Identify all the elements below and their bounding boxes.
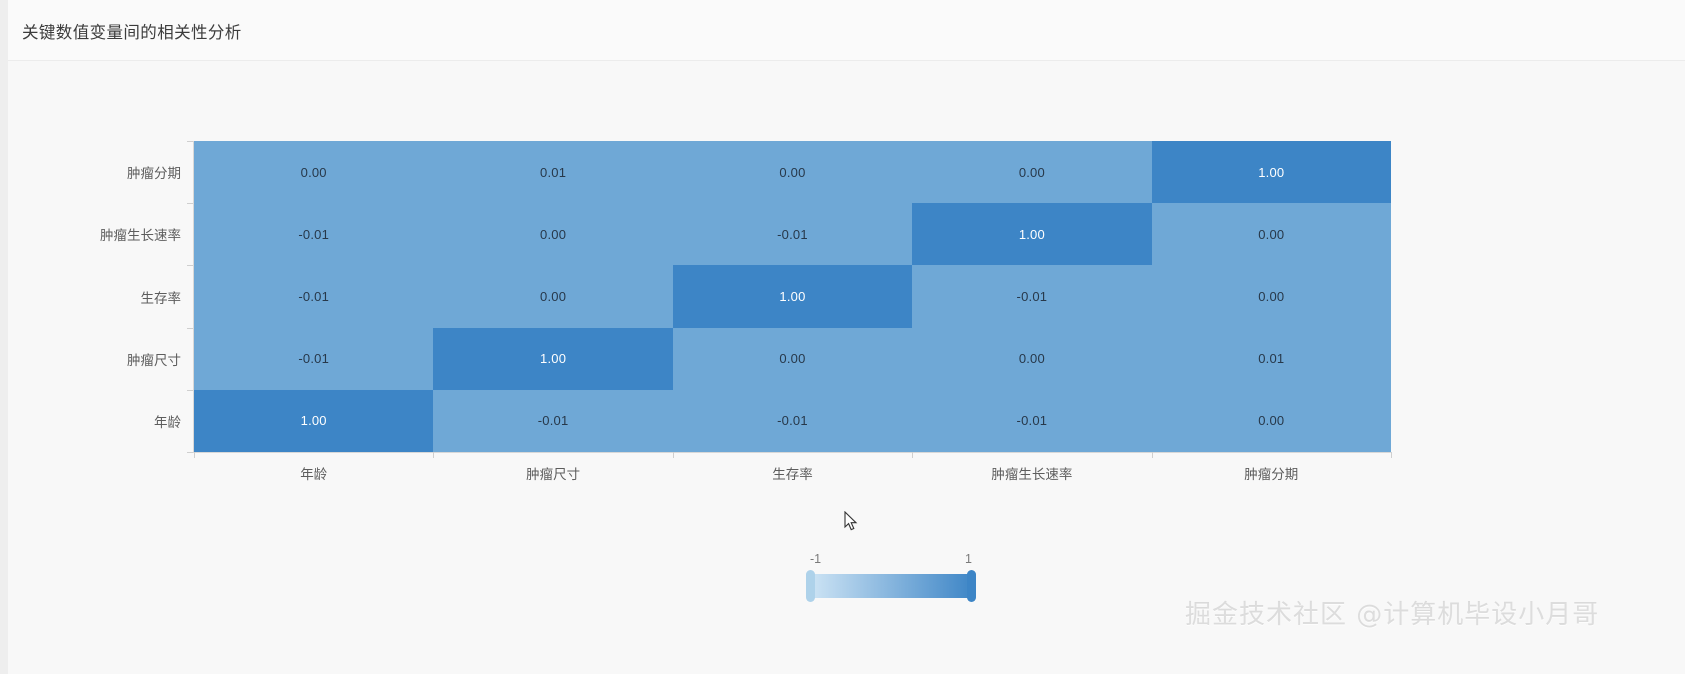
heatmap-cell[interactable]: 1.00 xyxy=(433,328,672,390)
heatmap-cell[interactable]: 0.00 xyxy=(1152,203,1391,265)
heatmap-cell[interactable]: 0.00 xyxy=(673,141,912,203)
heatmap-cell[interactable]: -0.01 xyxy=(673,203,912,265)
x-axis-label: 生存率 xyxy=(772,463,813,483)
heatmap-cell[interactable]: 1.00 xyxy=(673,265,912,327)
x-axis-line xyxy=(193,452,1392,453)
x-axis-tick xyxy=(433,452,434,458)
heatmap-plot-area[interactable]: 0.000.010.000.001.00-0.010.00-0.011.000.… xyxy=(194,141,1391,452)
y-axis-label: 肿瘤生长速率 xyxy=(8,224,181,244)
x-axis-label: 肿瘤生长速率 xyxy=(991,463,1072,483)
card-header: 关键数值变量间的相关性分析 xyxy=(8,0,1685,61)
heatmap-cell[interactable]: -0.01 xyxy=(194,265,433,327)
left-gutter xyxy=(0,0,8,674)
y-axis-line xyxy=(193,141,194,452)
x-axis-label: 肿瘤分期 xyxy=(1244,463,1298,483)
correlation-heatmap-chart: 0.000.010.000.001.00-0.010.00-0.011.000.… xyxy=(8,61,1685,674)
heatmap-cell[interactable]: -0.01 xyxy=(194,203,433,265)
visual-map-gradient-bar[interactable] xyxy=(808,574,974,598)
page-background: 关键数值变量间的相关性分析 0.000.010.000.001.00-0.010… xyxy=(0,0,1685,674)
y-axis-tick xyxy=(187,328,193,329)
x-axis-label: 肿瘤尺寸 xyxy=(526,463,580,483)
heatmap-cell[interactable]: 0.00 xyxy=(433,203,672,265)
x-axis-tick xyxy=(194,452,195,458)
visual-map-max-label: 1 xyxy=(965,552,972,566)
heatmap-cell[interactable]: -0.01 xyxy=(912,265,1151,327)
heatmap-row: 0.000.010.000.001.00 xyxy=(194,141,1391,203)
heatmap-cell[interactable]: 1.00 xyxy=(194,390,433,452)
heatmap-row: -0.010.001.00-0.010.00 xyxy=(194,265,1391,327)
y-axis-label: 肿瘤尺寸 xyxy=(8,349,181,369)
heatmap-cell[interactable]: 0.00 xyxy=(673,328,912,390)
heatmap-cell[interactable]: -0.01 xyxy=(673,390,912,452)
x-axis-tick xyxy=(912,452,913,458)
heatmap-cell[interactable]: 0.01 xyxy=(1152,328,1391,390)
heatmap-row: -0.011.000.000.000.01 xyxy=(194,328,1391,390)
visual-map-max-handle[interactable] xyxy=(967,570,976,602)
heatmap-cell[interactable]: -0.01 xyxy=(433,390,672,452)
heatmap-cell[interactable]: 0.00 xyxy=(912,328,1151,390)
y-axis-tick xyxy=(187,265,193,266)
x-axis-tick xyxy=(1152,452,1153,458)
heatmap-cell[interactable]: 0.01 xyxy=(433,141,672,203)
y-axis-label: 生存率 xyxy=(8,287,181,307)
x-axis-tick xyxy=(1391,452,1392,458)
heatmap-cell[interactable]: 0.00 xyxy=(433,265,672,327)
page-title: 关键数值变量间的相关性分析 xyxy=(22,19,242,43)
y-axis-tick xyxy=(187,141,193,142)
heatmap-row: 1.00-0.01-0.01-0.010.00 xyxy=(194,390,1391,452)
watermark-text: 掘金技术社区 @计算机毕设小月哥 xyxy=(1185,594,1599,631)
x-axis-label: 年龄 xyxy=(300,463,327,483)
visual-map-min-handle[interactable] xyxy=(806,570,815,602)
y-axis-tick xyxy=(187,452,193,453)
y-axis-tick xyxy=(187,390,193,391)
y-axis-label: 年龄 xyxy=(8,411,181,431)
heatmap-cell[interactable]: 0.00 xyxy=(1152,390,1391,452)
heatmap-cell[interactable]: 0.00 xyxy=(1152,265,1391,327)
heatmap-row: -0.010.00-0.011.000.00 xyxy=(194,203,1391,265)
y-axis-label: 肿瘤分期 xyxy=(8,162,181,182)
heatmap-cell[interactable]: -0.01 xyxy=(194,328,433,390)
heatmap-cell[interactable]: 0.00 xyxy=(194,141,433,203)
visual-map-min-label: -1 xyxy=(810,552,821,566)
heatmap-cell[interactable]: 0.00 xyxy=(912,141,1151,203)
visual-map-legend[interactable]: -1 1 xyxy=(808,552,974,602)
mouse-cursor-icon xyxy=(844,511,860,533)
x-axis-tick xyxy=(673,452,674,458)
chart-card: 关键数值变量间的相关性分析 0.000.010.000.001.00-0.010… xyxy=(8,0,1685,674)
y-axis-tick xyxy=(187,203,193,204)
heatmap-cell[interactable]: -0.01 xyxy=(912,390,1151,452)
heatmap-cell[interactable]: 1.00 xyxy=(1152,141,1391,203)
card-body: 0.000.010.000.001.00-0.010.00-0.011.000.… xyxy=(8,61,1685,674)
heatmap-cell[interactable]: 1.00 xyxy=(912,203,1151,265)
